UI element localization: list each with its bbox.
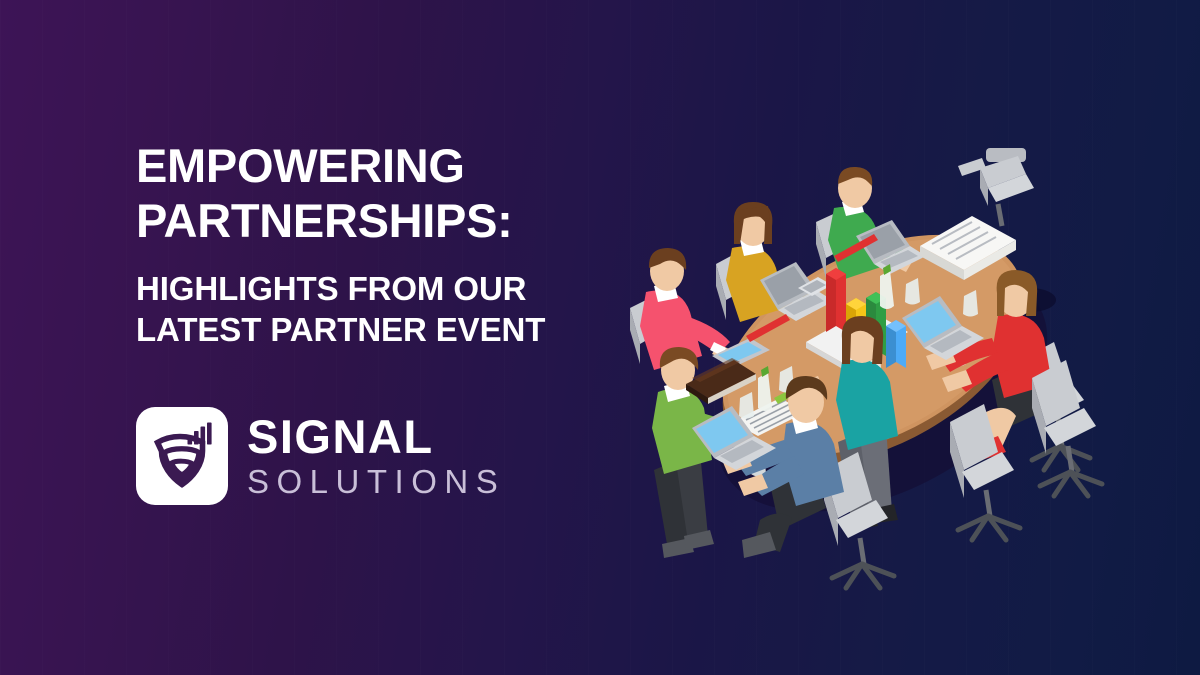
office-chair (958, 148, 1034, 226)
headline-line-2: PARTNERSHIPS: (136, 193, 606, 248)
bar-red (826, 268, 846, 332)
logo-wordmark: SIGNAL SOLUTIONS (247, 413, 505, 500)
subhead-line-1: HIGHLIGHTS FROM OUR (136, 268, 606, 309)
brand-logo: SIGNAL SOLUTIONS (136, 407, 505, 505)
wordmark-secondary: SOLUTIONS (247, 464, 505, 500)
isometric-meeting-illustration (620, 140, 1120, 570)
copy-block: EMPOWERING PARTNERSHIPS: HIGHLIGHTS FROM… (136, 138, 606, 350)
office-chair (1032, 360, 1102, 496)
shield-signal-icon (149, 421, 215, 491)
marketing-banner: EMPOWERING PARTNERSHIPS: HIGHLIGHTS FROM… (0, 0, 1200, 675)
wordmark-primary: SIGNAL (247, 413, 505, 460)
logo-tile (136, 407, 228, 505)
headline-line-1: EMPOWERING (136, 138, 606, 193)
page-subtitle: HIGHLIGHTS FROM OUR LATEST PARTNER EVENT (136, 268, 606, 350)
bar-blue (886, 320, 906, 368)
subhead-line-2: LATEST PARTNER EVENT (136, 309, 606, 350)
page-title: EMPOWERING PARTNERSHIPS: (136, 138, 606, 248)
